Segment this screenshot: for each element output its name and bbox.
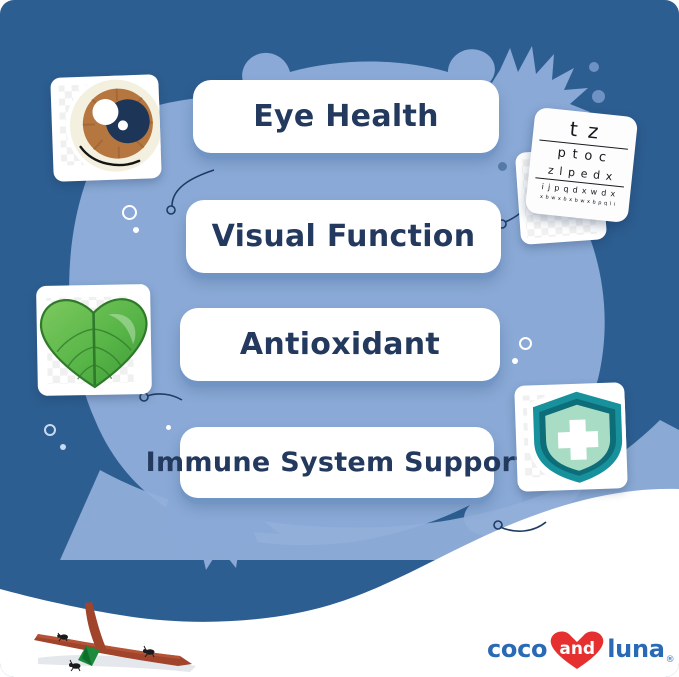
logo-word-left: coco — [487, 635, 547, 663]
eyeball-tile — [50, 74, 162, 182]
eyeball-icon — [50, 74, 162, 182]
shield-cross-icon — [514, 382, 628, 492]
logo-heart-word: and — [549, 628, 605, 670]
logo-registered-mark: ® — [666, 655, 675, 665]
bubble-dot-4 — [166, 425, 171, 430]
logo-word-right: luna — [607, 635, 664, 663]
bubble-dot-3 — [60, 444, 66, 450]
twig-with-ants-icon — [30, 596, 215, 674]
benefit-card-eye-health[interactable]: Eye Health — [193, 80, 499, 153]
bubble-dark-3 — [592, 90, 605, 103]
bubble-ring-3 — [44, 424, 56, 436]
eye-chart-icon: t z p t o c z l p e d x i j p q d x w d … — [525, 107, 639, 223]
bubble-dot-1 — [133, 227, 139, 233]
eye-chart-row-1: t z — [533, 113, 638, 148]
bubble-dark-1 — [498, 162, 507, 171]
bubble-ring-2 — [519, 337, 532, 350]
shield-tile — [514, 382, 628, 492]
benefit-card-immune-support[interactable]: Immune System Support — [180, 427, 494, 498]
benefit-label: Eye Health — [253, 99, 439, 134]
poster-canvas: Eye Health Visual Function Antioxidant I… — [0, 0, 679, 677]
bubble-dot-2 — [512, 358, 518, 364]
logo-heart: and — [549, 628, 605, 670]
coco-and-luna-logo[interactable]: coco and luna ® — [487, 628, 675, 670]
heart-leaf-icon — [36, 284, 152, 396]
benefit-card-visual-function[interactable]: Visual Function — [186, 200, 501, 273]
benefit-label: Antioxidant — [240, 327, 440, 362]
heart-leaf-tile — [36, 284, 152, 396]
bubble-dark-2 — [589, 62, 599, 72]
benefit-label: Visual Function — [212, 219, 476, 254]
benefit-label: Immune System Support — [146, 447, 529, 478]
benefit-card-antioxidant[interactable]: Antioxidant — [180, 308, 500, 381]
bubble-ring-1 — [122, 205, 137, 220]
